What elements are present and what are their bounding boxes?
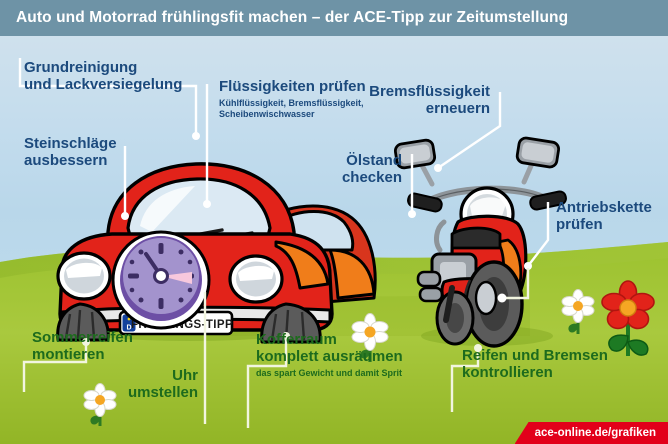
label-grundreinigung-line1: Grundreinigung (24, 60, 224, 77)
label-kofferraum-line2: komplett ausräumen (256, 349, 466, 366)
car-illustration: D FRÜHLINGS-TIPP (58, 164, 375, 342)
label-bremsfluessigkeit-line1: Bremsflüssigkeit (330, 84, 490, 101)
label-kofferraum-line1: Kofferraum (256, 332, 466, 349)
motorcycle-illustration (394, 137, 567, 346)
label-oelstand: Ölstand checken (280, 153, 402, 187)
motorcycle-front-wheel (464, 262, 522, 346)
label-reifen-bremsen-line2: kontrollieren (462, 365, 662, 382)
mirror-right (516, 137, 559, 182)
label-sommerreifen-line2: montieren (32, 347, 192, 364)
source-badge-label: ace-online.de/grafiken (535, 427, 656, 439)
label-uhr-line2: umstellen (80, 385, 198, 402)
label-oelstand-line2: checken (280, 170, 402, 187)
label-antriebskette: Antriebskette prüfen (556, 200, 666, 234)
red-flower (602, 281, 654, 356)
clock-face (113, 232, 209, 328)
source-badge[interactable]: ace-online.de/grafiken (515, 422, 668, 444)
label-grundreinigung: Grundreinigung und Lackversiegelung (24, 60, 224, 94)
label-steinschlaege-line2: ausbessern (24, 153, 174, 170)
car-headlight-left (58, 253, 110, 299)
label-kofferraum-sub: das spart Gewicht und damit Sprit (256, 368, 466, 379)
label-antriebskette-line2: prüfen (556, 217, 666, 234)
infographic-root: Auto und Motorrad frühlingsfit machen – … (0, 0, 668, 444)
label-kofferraum: Kofferraum komplett ausräumen das spart … (256, 332, 466, 378)
label-uhr: Uhr umstellen (80, 368, 198, 402)
label-sommerreifen: Sommerreifen montieren (32, 330, 192, 364)
label-grundreinigung-line2: und Lackversiegelung (24, 77, 224, 94)
label-steinschlaege: Steinschläge ausbessern (24, 136, 174, 170)
illustration-scene: D FRÜHLINGS-TIPP (0, 36, 668, 444)
daisy-flower-right (562, 290, 594, 335)
label-uhr-line1: Uhr (80, 368, 198, 385)
page-title: Auto und Motorrad frühlingsfit machen – … (0, 9, 568, 27)
car-headlight-right (230, 256, 282, 302)
label-reifen-bremsen-line1: Reifen und Bremsen (462, 348, 662, 365)
label-steinschlaege-line1: Steinschläge (24, 136, 174, 153)
label-oelstand-line1: Ölstand (280, 153, 402, 170)
label-sommerreifen-line1: Sommerreifen (32, 330, 192, 347)
label-bremsfluessigkeit: Bremsflüssigkeit erneuern (330, 84, 490, 118)
label-antriebskette-line1: Antriebskette (556, 200, 666, 217)
header-bar: Auto und Motorrad frühlingsfit machen – … (0, 0, 668, 36)
label-bremsfluessigkeit-line2: erneuern (330, 101, 490, 118)
label-reifen-bremsen: Reifen und Bremsen kontrollieren (462, 348, 662, 382)
